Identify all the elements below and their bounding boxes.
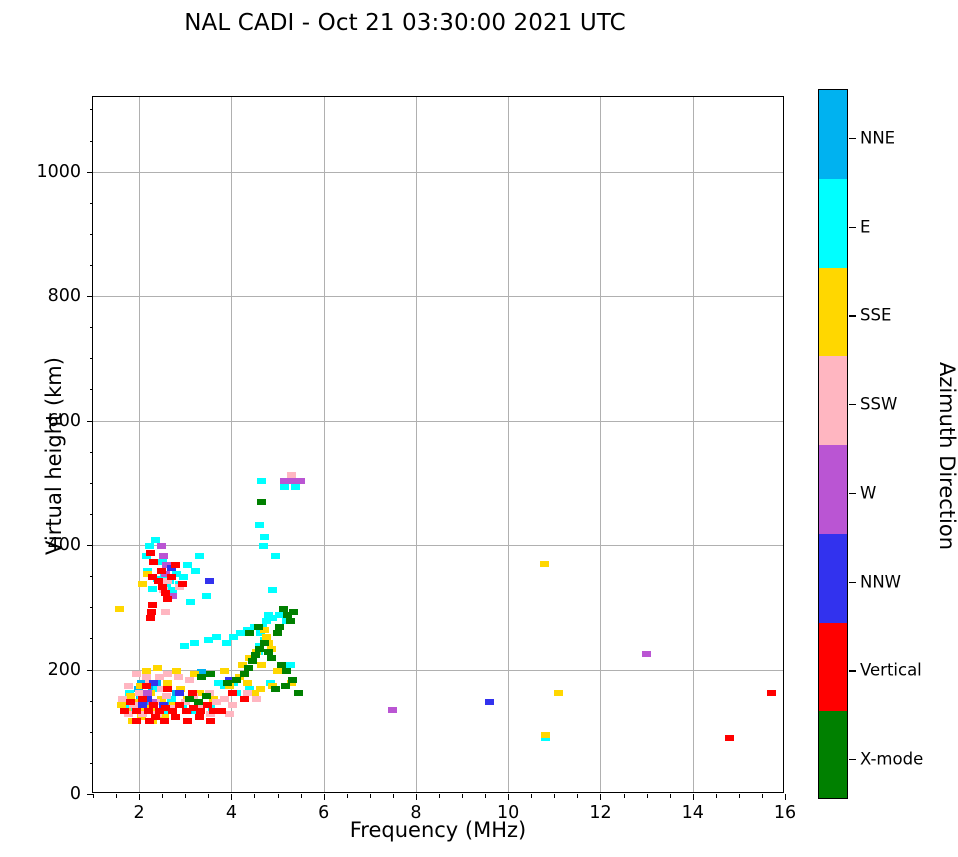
y-axis-label: Virtual height (km) — [42, 306, 66, 606]
data-mark-ssw — [161, 609, 170, 615]
data-mark-e — [222, 640, 231, 646]
data-mark-sse — [138, 581, 147, 587]
x-tick — [693, 794, 694, 800]
colorbar-label-e: E — [860, 217, 870, 236]
data-mark-vertical — [163, 686, 172, 692]
data-mark-x-mode — [271, 686, 280, 692]
data-mark-vertical — [178, 581, 187, 587]
data-mark-sse — [256, 686, 265, 692]
data-mark-e — [148, 586, 157, 592]
data-mark-w — [157, 543, 166, 549]
plot-area — [93, 97, 783, 792]
data-mark-ssw — [174, 674, 183, 680]
x-tick-minor — [554, 794, 555, 798]
data-mark-ssw — [243, 690, 252, 696]
data-mark-x-mode — [267, 655, 276, 661]
data-mark-nnw — [485, 699, 494, 705]
data-mark-e — [186, 599, 195, 605]
page-title: NAL CADI - Oct 21 03:30:00 2021 UTC — [0, 10, 810, 36]
data-mark-vertical — [725, 735, 734, 741]
data-mark-vertical — [146, 615, 155, 621]
x-tick-minor — [716, 794, 717, 798]
data-mark-vertical — [767, 690, 776, 696]
y-tick-minor — [90, 265, 94, 266]
data-mark-vertical — [171, 714, 180, 720]
x-tick-minor — [577, 794, 578, 798]
data-mark-vertical — [149, 702, 158, 708]
y-tick — [87, 670, 93, 671]
colorbar-tick — [849, 493, 856, 494]
y-tick-minor — [90, 514, 94, 515]
data-mark-vertical — [157, 568, 166, 574]
colorbar-tick — [849, 670, 856, 671]
colorbar-tick — [849, 582, 856, 583]
data-mark-w — [642, 651, 651, 657]
data-mark-x-mode — [232, 677, 241, 683]
y-tick-label: 0 — [70, 784, 81, 804]
data-mark-sse — [142, 668, 151, 674]
colorbar-label-x-mode: X-mode — [860, 750, 923, 769]
colorbar-band-ssw — [819, 356, 847, 445]
data-mark-nnw — [205, 578, 214, 584]
data-mark-ssw — [252, 696, 261, 702]
data-mark-vertical — [132, 718, 141, 724]
y-tick — [87, 545, 93, 546]
data-mark-e — [145, 543, 154, 549]
data-mark-ssw — [220, 696, 229, 702]
colorbar — [818, 89, 848, 799]
x-tick-minor — [116, 794, 117, 798]
y-tick-minor — [90, 701, 94, 702]
data-mark-x-mode — [294, 690, 303, 696]
data-mark-sse — [117, 702, 126, 708]
y-tick-minor — [90, 607, 94, 608]
data-mark-vertical — [203, 702, 212, 708]
colorbar-tick — [849, 315, 856, 316]
colorbar-tick — [849, 227, 856, 228]
x-tick — [416, 794, 417, 800]
data-mark-e — [191, 568, 200, 574]
data-mark-vertical — [126, 699, 135, 705]
x-tick-minor — [670, 794, 671, 798]
colorbar-tick — [849, 759, 856, 760]
y-tick-minor — [90, 327, 94, 328]
data-mark-vertical — [175, 702, 184, 708]
x-tick-minor — [439, 794, 440, 798]
data-mark-e — [204, 637, 213, 643]
y-tick-minor — [90, 109, 94, 110]
data-mark-ssw — [287, 472, 296, 478]
gridline-horizontal — [93, 172, 783, 173]
data-mark-ssw — [124, 683, 133, 689]
gridline-vertical — [693, 97, 694, 792]
data-mark-sse — [273, 668, 282, 674]
data-mark-vertical — [217, 708, 226, 714]
x-tick-minor — [208, 794, 209, 798]
data-mark-nnw — [175, 690, 184, 696]
y-tick-minor — [90, 203, 94, 204]
y-tick-minor — [90, 234, 94, 235]
data-mark-vertical — [196, 708, 205, 714]
colorbar-band-nne — [819, 90, 847, 179]
x-tick-minor — [531, 794, 532, 798]
x-axis-label: Frequency (MHz) — [92, 818, 784, 842]
x-tick-minor — [278, 794, 279, 798]
data-mark-x-mode — [223, 680, 232, 686]
data-mark-vertical — [158, 584, 167, 590]
data-mark-e — [195, 553, 204, 559]
y-tick-minor — [90, 483, 94, 484]
data-mark-x-mode — [277, 662, 286, 668]
y-tick-minor — [90, 389, 94, 390]
data-mark-x-mode — [202, 693, 211, 699]
data-mark-vertical — [132, 708, 141, 714]
data-mark-w — [388, 707, 397, 713]
data-mark-e — [268, 587, 277, 593]
x-tick-minor — [624, 794, 625, 798]
x-tick-minor — [185, 794, 186, 798]
gridline-vertical — [416, 97, 417, 792]
data-mark-vertical — [195, 714, 204, 720]
data-mark-sse — [220, 668, 229, 674]
data-mark-x-mode — [273, 630, 282, 636]
gridline-vertical — [508, 97, 509, 792]
colorbar-band-nnw — [819, 534, 847, 623]
data-mark-vertical — [228, 690, 237, 696]
data-mark-x-mode — [257, 499, 266, 505]
colorbar-label-vertical: Vertical — [860, 661, 922, 680]
colorbar-band-vertical — [819, 623, 847, 712]
data-mark-sse — [172, 668, 181, 674]
data-mark-ssw — [162, 693, 171, 699]
data-mark-x-mode — [260, 640, 269, 646]
data-mark-vertical — [167, 574, 176, 580]
colorbar-label-nne: NNE — [860, 128, 895, 147]
x-tick — [324, 794, 325, 800]
data-mark-x-mode — [282, 668, 291, 674]
colorbar-band-e — [819, 179, 847, 268]
data-mark-x-mode — [194, 699, 203, 705]
data-mark-sse — [541, 732, 550, 738]
y-tick-minor — [90, 141, 94, 142]
data-mark-x-mode — [245, 630, 254, 636]
y-tick-minor — [90, 576, 94, 577]
data-mark-vertical — [145, 718, 154, 724]
data-mark-w — [296, 478, 305, 484]
data-mark-x-mode — [197, 674, 206, 680]
x-tick — [785, 794, 786, 800]
gridline-vertical — [324, 97, 325, 792]
data-mark-x-mode — [255, 646, 264, 652]
data-mark-vertical — [160, 718, 169, 724]
data-mark-x-mode — [288, 677, 297, 683]
gridline-horizontal — [93, 545, 783, 546]
colorbar-tick — [849, 404, 856, 405]
data-mark-x-mode — [244, 665, 253, 671]
data-mark-vertical — [120, 708, 129, 714]
y-tick-minor — [90, 732, 94, 733]
data-mark-e — [291, 484, 300, 490]
data-mark-e — [257, 478, 266, 484]
data-mark-sse — [115, 606, 124, 612]
x-tick — [139, 794, 140, 800]
data-mark-vertical — [144, 708, 153, 714]
data-mark-e — [179, 574, 188, 580]
data-mark-ssw — [225, 711, 234, 717]
data-mark-ssw — [163, 671, 172, 677]
y-tick-minor — [90, 358, 94, 359]
data-mark-e — [180, 643, 189, 649]
data-mark-e — [271, 553, 280, 559]
data-mark-vertical — [206, 718, 215, 724]
data-mark-e — [190, 640, 199, 646]
y-tick — [87, 421, 93, 422]
data-mark-x-mode — [289, 609, 298, 615]
data-mark-vertical — [183, 718, 192, 724]
data-mark-sse — [262, 634, 271, 640]
gridline-vertical — [600, 97, 601, 792]
x-tick-minor — [739, 794, 740, 798]
x-tick-minor — [93, 794, 94, 798]
data-mark-ssw — [142, 674, 151, 680]
data-mark-nnw — [149, 680, 158, 686]
data-mark-nnw — [138, 702, 147, 708]
colorbar-label-ssw: SSW — [860, 395, 897, 414]
data-mark-vertical — [161, 590, 170, 596]
data-mark-vertical — [240, 696, 249, 702]
data-mark-vertical — [149, 559, 158, 565]
y-tick — [87, 794, 93, 795]
x-tick-minor — [647, 794, 648, 798]
colorbar-tick — [849, 138, 856, 139]
data-mark-x-mode — [264, 649, 273, 655]
colorbar-band-x-mode — [819, 711, 847, 799]
data-mark-x-mode — [251, 652, 260, 658]
data-mark-e — [255, 522, 264, 528]
data-mark-ssw — [185, 677, 194, 683]
data-mark-e — [259, 543, 268, 549]
data-mark-sse — [257, 662, 266, 668]
data-mark-x-mode — [275, 624, 284, 630]
data-mark-e — [214, 680, 223, 686]
data-mark-vertical — [142, 683, 151, 689]
data-mark-sse — [243, 680, 252, 686]
x-tick — [231, 794, 232, 800]
data-mark-vertical — [188, 690, 197, 696]
data-mark-e — [286, 662, 295, 668]
x-tick-minor — [254, 794, 255, 798]
data-mark-x-mode — [206, 671, 215, 677]
x-tick-minor — [762, 794, 763, 798]
x-tick — [508, 794, 509, 800]
data-mark-x-mode — [281, 683, 290, 689]
gridline-horizontal — [93, 421, 783, 422]
data-mark-vertical — [154, 578, 163, 584]
data-mark-sse — [554, 690, 563, 696]
y-tick-minor — [90, 638, 94, 639]
data-mark-vertical — [148, 602, 157, 608]
y-tick-label: 200 — [48, 660, 81, 680]
data-mark-vertical — [168, 708, 177, 714]
y-tick-label: 800 — [48, 286, 81, 306]
x-tick-minor — [370, 794, 371, 798]
data-mark-x-mode — [279, 606, 288, 612]
x-tick-minor — [301, 794, 302, 798]
data-mark-sse — [163, 680, 172, 686]
data-mark-w — [288, 478, 297, 484]
x-tick-minor — [485, 794, 486, 798]
data-mark-vertical — [147, 609, 156, 615]
data-mark-w — [159, 553, 168, 559]
y-tick — [87, 172, 93, 173]
y-tick-label: 1000 — [36, 162, 81, 182]
x-tick-minor — [162, 794, 163, 798]
data-mark-x-mode — [248, 658, 257, 664]
data-mark-e — [212, 634, 221, 640]
data-mark-ssw — [132, 671, 141, 677]
data-mark-x-mode — [286, 618, 295, 624]
data-mark-vertical — [163, 596, 172, 602]
data-mark-x-mode — [254, 624, 263, 630]
data-mark-e — [264, 612, 273, 618]
colorbar-band-w — [819, 445, 847, 534]
colorbar-label-w: W — [860, 483, 876, 502]
colorbar-title: Azimuth Direction — [935, 306, 958, 606]
data-mark-sse — [540, 561, 549, 567]
data-mark-ssw — [228, 702, 237, 708]
y-tick-minor — [90, 763, 94, 764]
colorbar-band-sse — [819, 268, 847, 357]
data-mark-vertical — [146, 550, 155, 556]
y-tick — [87, 296, 93, 297]
data-mark-w — [143, 690, 152, 696]
x-tick-minor — [347, 794, 348, 798]
data-mark-vertical — [138, 696, 147, 702]
x-tick — [600, 794, 601, 800]
colorbar-label-sse: SSE — [860, 306, 891, 325]
gridline-horizontal — [93, 296, 783, 297]
plot-frame: 24681012141602004006008001000 — [92, 96, 784, 793]
x-tick-minor — [462, 794, 463, 798]
data-mark-x-mode — [240, 671, 249, 677]
ionogram-plot-page: NAL CADI - Oct 21 03:30:00 2021 UTC 2468… — [0, 0, 958, 857]
data-mark-sse — [153, 665, 162, 671]
colorbar-label-nnw: NNW — [860, 572, 901, 591]
y-tick-minor — [90, 452, 94, 453]
data-mark-e — [151, 537, 160, 543]
data-mark-vertical — [171, 562, 180, 568]
data-mark-e — [183, 562, 192, 568]
data-mark-e — [260, 534, 269, 540]
data-mark-e — [202, 593, 211, 599]
x-tick-minor — [393, 794, 394, 798]
data-mark-e — [280, 484, 289, 490]
